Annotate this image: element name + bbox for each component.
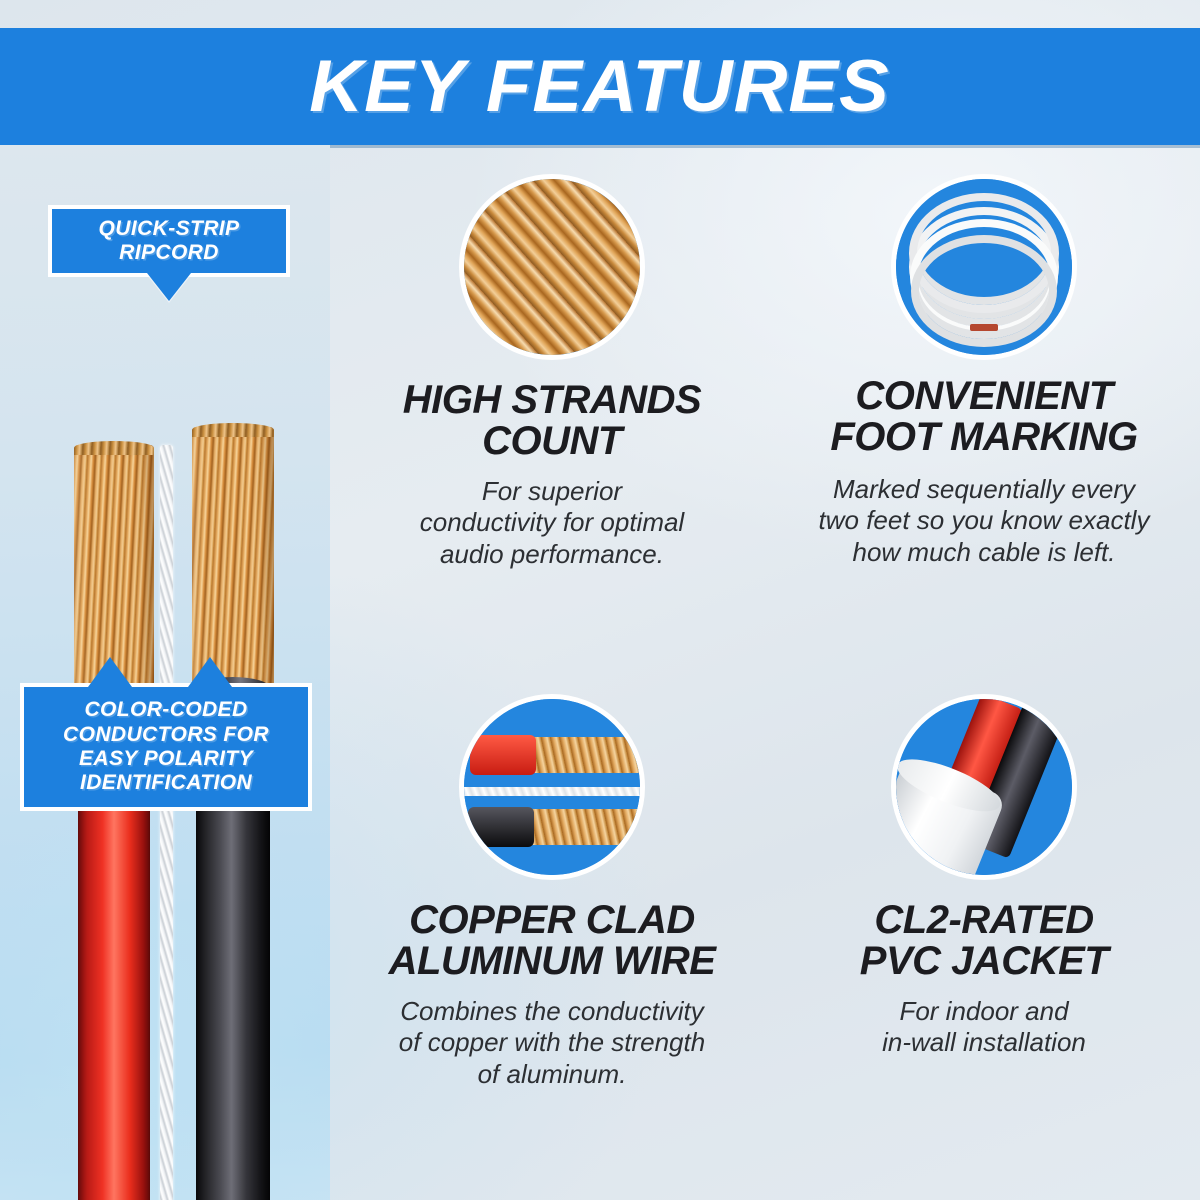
callout-pointer-up-black-icon [188, 657, 232, 687]
callout-line: EASY POLARITY [34, 747, 298, 771]
cable-coil-icon [891, 174, 1077, 360]
feature-title: CONVENIENT FOOT MARKING [830, 376, 1137, 458]
cable-coil-art [896, 179, 1072, 355]
feature-copper-clad-aluminum-wire: COPPER CLAD ALUMINUM WIRE Combines the c… [336, 680, 768, 1200]
header-banner: KEY FEATURES [0, 28, 1200, 145]
infographic-page: KEY FEATURES QUICK-STRIP RIPCORD COLOR-C… [0, 0, 1200, 1200]
feature-title: COPPER CLAD ALUMINUM WIRE [389, 900, 716, 982]
foot-marking-label [970, 324, 998, 331]
callout-line: QUICK-STRIP [60, 217, 278, 241]
feature-body: Combines the conductivity of copper with… [399, 996, 705, 1091]
page-title: KEY FEATURES [310, 50, 890, 123]
black-insulation [468, 807, 534, 847]
cut-cable-conductors-icon [459, 694, 645, 880]
product-photo [0, 145, 330, 1200]
callout-pointer-up-red-icon [88, 657, 132, 687]
callout-color-coded-conductors: COLOR-CODED CONDUCTORS FOR EASY POLARITY… [20, 683, 312, 811]
cut-cable-art [464, 699, 640, 875]
copper-strands-icon [459, 174, 645, 360]
red-copper-strands [530, 737, 645, 773]
copper-tip-red-icon [74, 441, 154, 455]
callout-line: COLOR-CODED [34, 698, 298, 722]
ripcord-strand [460, 787, 644, 796]
callout-line: RIPCORD [60, 241, 278, 265]
feature-high-strands-count: HIGH STRANDS COUNT For superior conducti… [336, 160, 768, 680]
red-insulation [470, 735, 536, 775]
pvc-jacket-art [896, 699, 1072, 875]
copper-tip-black-icon [192, 423, 274, 437]
black-copper-strands [528, 809, 645, 845]
feature-body: For superior conductivity for optimal au… [420, 476, 684, 571]
pvc-jacket-icon [891, 694, 1077, 880]
copper-strands-art [464, 179, 640, 355]
callout-quick-strip-ripcord: QUICK-STRIP RIPCORD [48, 205, 290, 277]
feature-convenient-foot-marking: CONVENIENT FOOT MARKING Marked sequentia… [768, 160, 1200, 680]
copper-strands-black-icon [192, 427, 274, 689]
feature-title: HIGH STRANDS COUNT [403, 380, 701, 462]
white-ripcord [160, 445, 173, 1200]
feature-body: Marked sequentially every two feet so yo… [819, 474, 1150, 569]
callout-line: CONDUCTORS FOR [34, 723, 298, 747]
features-grid: HIGH STRANDS COUNT For superior conducti… [336, 160, 1200, 1200]
feature-cl2-rated-pvc-jacket: CL2-RATED PVC JACKET For indoor and in-w… [768, 680, 1200, 1200]
callout-line: IDENTIFICATION [34, 771, 298, 795]
feature-body: For indoor and in-wall installation [882, 996, 1086, 1059]
callout-pointer-down-icon [147, 273, 191, 301]
feature-title: CL2-RATED PVC JACKET [860, 900, 1108, 982]
